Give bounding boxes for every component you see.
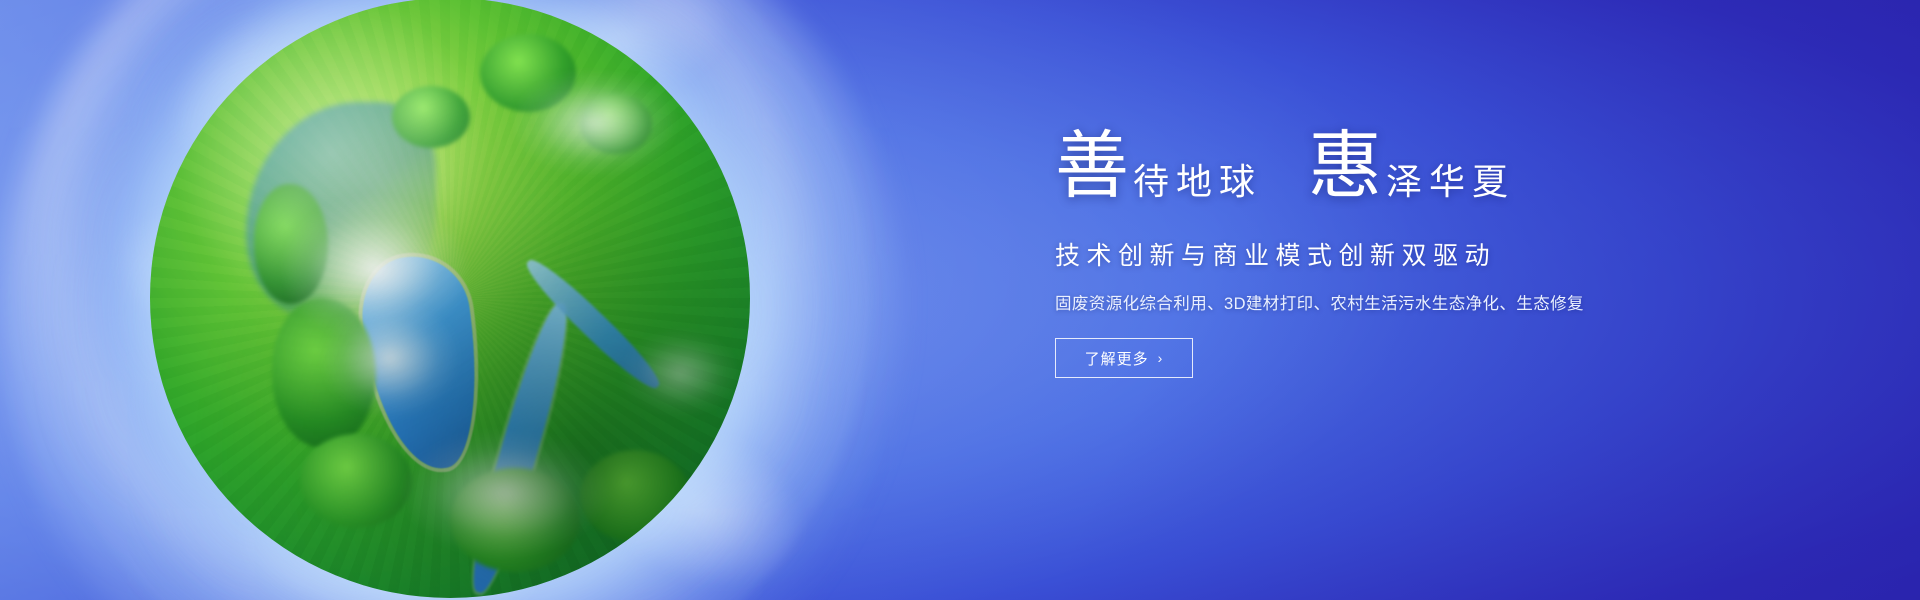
learn-more-button[interactable]: 了解更多 › [1055,338,1193,378]
hero-banner: 善待地球惠泽华夏 技术创新与商业模式创新双驱动 固废资源化综合利用、3D建材打印… [0,0,1920,600]
page-title: 善待地球惠泽华夏 [1055,130,1755,222]
headline-char-primary-1: 善 [1055,130,1129,204]
globe-shading [150,0,750,598]
headline-text-1: 待地球 [1133,164,1262,204]
learn-more-label: 了解更多 [1085,348,1149,369]
headline-char-primary-2: 惠 [1308,130,1382,204]
hero-subtitle: 技术创新与商业模式创新双驱动 [1055,236,1755,272]
hero-description: 固废资源化综合利用、3D建材打印、农村生活污水生态净化、生态修复 [1055,290,1755,314]
hero-content: 善待地球惠泽华夏 技术创新与商业模式创新双驱动 固废资源化综合利用、3D建材打印… [1055,130,1755,378]
headline-text-2: 泽华夏 [1386,164,1515,204]
green-globe [150,0,750,598]
chevron-right-icon: › [1158,351,1164,365]
planet-illustration [30,0,870,600]
